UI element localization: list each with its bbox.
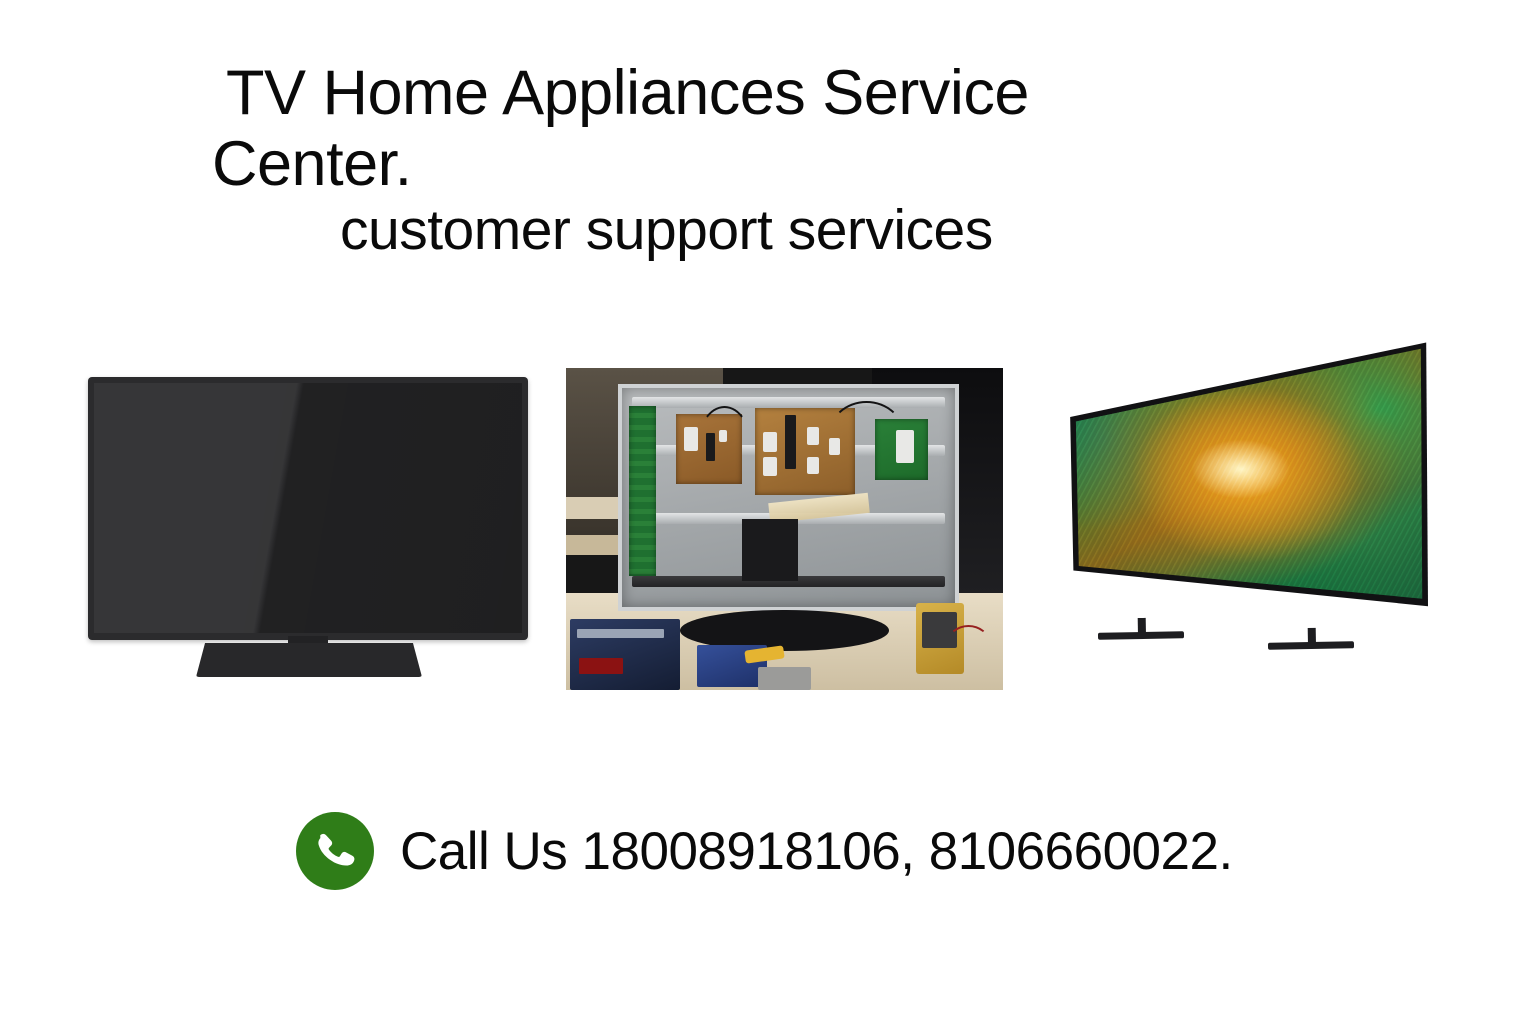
t-con-board	[629, 406, 656, 577]
phone-icon[interactable]	[296, 812, 374, 890]
heatsink	[785, 415, 796, 469]
tv-panel	[88, 377, 528, 640]
soldering-tray	[758, 667, 810, 690]
stand-mount	[742, 519, 798, 580]
tv-repair-bench-image	[566, 368, 1003, 690]
call-to-action[interactable]: Call Us 18008918106, 8106660022.	[296, 812, 1233, 890]
chassis-rail	[632, 397, 944, 408]
flat-screen-tv-front-image	[88, 377, 528, 679]
wire	[828, 401, 905, 471]
call-us-text: Call Us 18008918106, 8106660022.	[400, 821, 1233, 882]
angled-smart-tv-image	[1068, 338, 1428, 678]
headline-line-1: TV Home Appliances Service	[226, 62, 1536, 125]
psu-led-display	[579, 658, 623, 674]
tv-foot-stem	[1307, 628, 1315, 644]
tv-chassis-open	[618, 384, 958, 611]
capacitor	[763, 432, 777, 451]
capacitor	[763, 457, 777, 476]
tv-foot-stem	[1137, 618, 1145, 634]
headline-line-3: customer support services	[340, 202, 1536, 259]
tv-foot-right	[1268, 641, 1354, 649]
capacitor	[807, 427, 819, 445]
capacitor	[807, 457, 819, 475]
tv-screen	[94, 383, 522, 633]
wire	[696, 406, 753, 493]
psu-panel-strip	[577, 629, 664, 637]
tv-foot-left	[1098, 631, 1184, 639]
headline-block: TV Home Appliances Service Center. custo…	[0, 62, 1536, 259]
bench-power-supply	[570, 619, 679, 690]
headline-line-2: Center.	[212, 133, 1536, 196]
tv-stand-base	[196, 643, 422, 677]
screen-sheen	[94, 383, 522, 633]
multimeter-lead	[947, 625, 990, 661]
